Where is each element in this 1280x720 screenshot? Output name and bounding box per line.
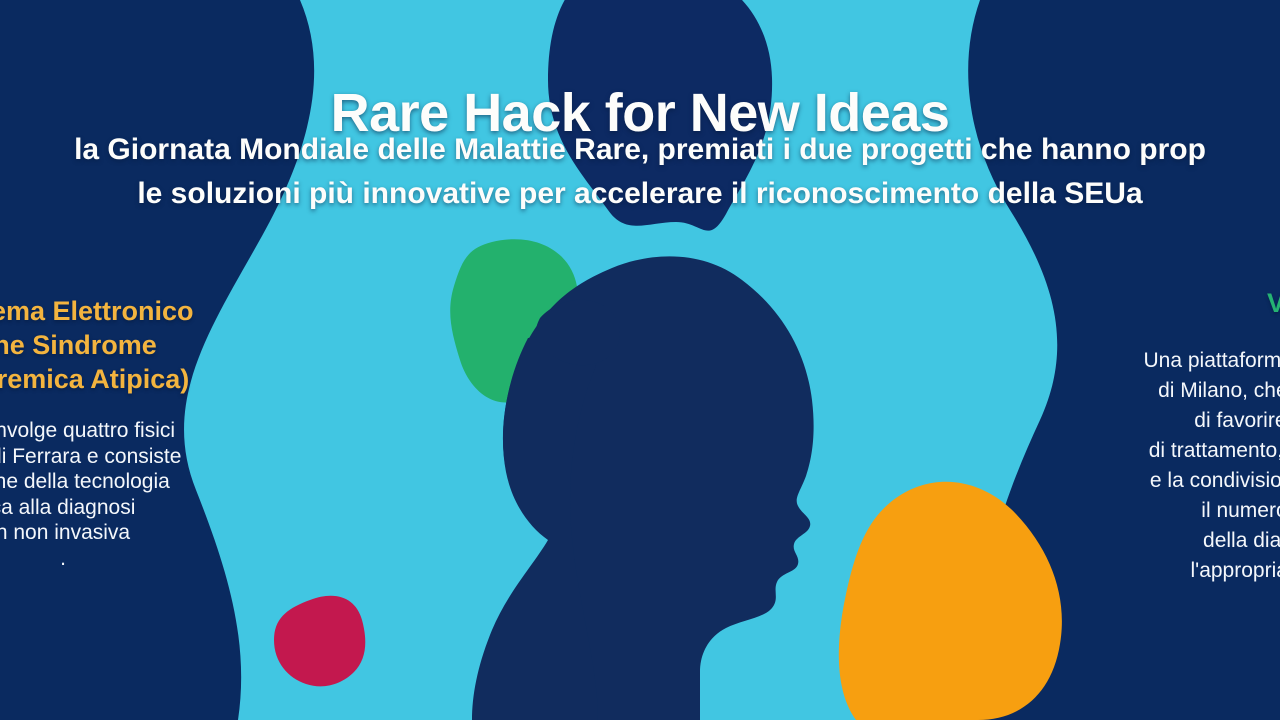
left-body-line-1: o coinvolge quattro fisici bbox=[0, 418, 308, 444]
left-title-line-3: co-Uremica Atipica) bbox=[0, 362, 308, 396]
left-body-line-5: n non invasiva bbox=[0, 520, 308, 546]
right-title-line-1: V bbox=[1016, 286, 1280, 320]
right-project-title: V bbox=[1016, 286, 1280, 320]
right-body-line-5: e la condivisione dei dati, a bbox=[1016, 466, 1280, 496]
right-body-line-8: l'appropriatezza te bbox=[1016, 556, 1280, 586]
right-body-line-3: di favorire il referr bbox=[1016, 406, 1280, 436]
right-body-line-2: di Milano, che permette a bbox=[1016, 376, 1280, 406]
left-title-line-1: (Sistema Elettronico bbox=[0, 294, 308, 328]
left-body-line-3: azione della tecnologia bbox=[0, 469, 308, 495]
left-body-line-4: ca alla diagnosi bbox=[0, 495, 308, 521]
poster-frame: Rare Hack for New Ideas la Giornata Mond… bbox=[0, 0, 1280, 720]
left-body-line-2: rsità di Ferrara e consiste bbox=[0, 444, 308, 470]
subtitle-line-2: le soluzioni più innovative per accelera… bbox=[0, 172, 1280, 216]
right-project-description: Una piattaforma, ideata da u di Milano, … bbox=[1016, 346, 1280, 586]
left-project-block: (Sistema Elettronico ione Sindrome co-Ur… bbox=[0, 294, 308, 571]
left-project-description: o coinvolge quattro fisici rsità di Ferr… bbox=[0, 418, 308, 571]
left-body-line-6: . bbox=[0, 546, 308, 572]
right-body-line-1: Una piattaforma, ideata da u bbox=[1016, 346, 1280, 376]
right-body-line-4: di trattamento, aiutare la co bbox=[1016, 436, 1280, 466]
subtitle: la Giornata Mondiale delle Malattie Rare… bbox=[0, 128, 1280, 216]
left-title-line-2: ione Sindrome bbox=[0, 328, 308, 362]
right-body-line-6: il numero e la te bbox=[1016, 496, 1280, 526]
right-project-block: V Una piattaforma, ideata da u di Milano… bbox=[1016, 286, 1280, 586]
subtitle-line-1: la Giornata Mondiale delle Malattie Rare… bbox=[0, 128, 1280, 172]
left-project-title: (Sistema Elettronico ione Sindrome co-Ur… bbox=[0, 294, 308, 396]
right-body-line-7: della diagnosi e bbox=[1016, 526, 1280, 556]
